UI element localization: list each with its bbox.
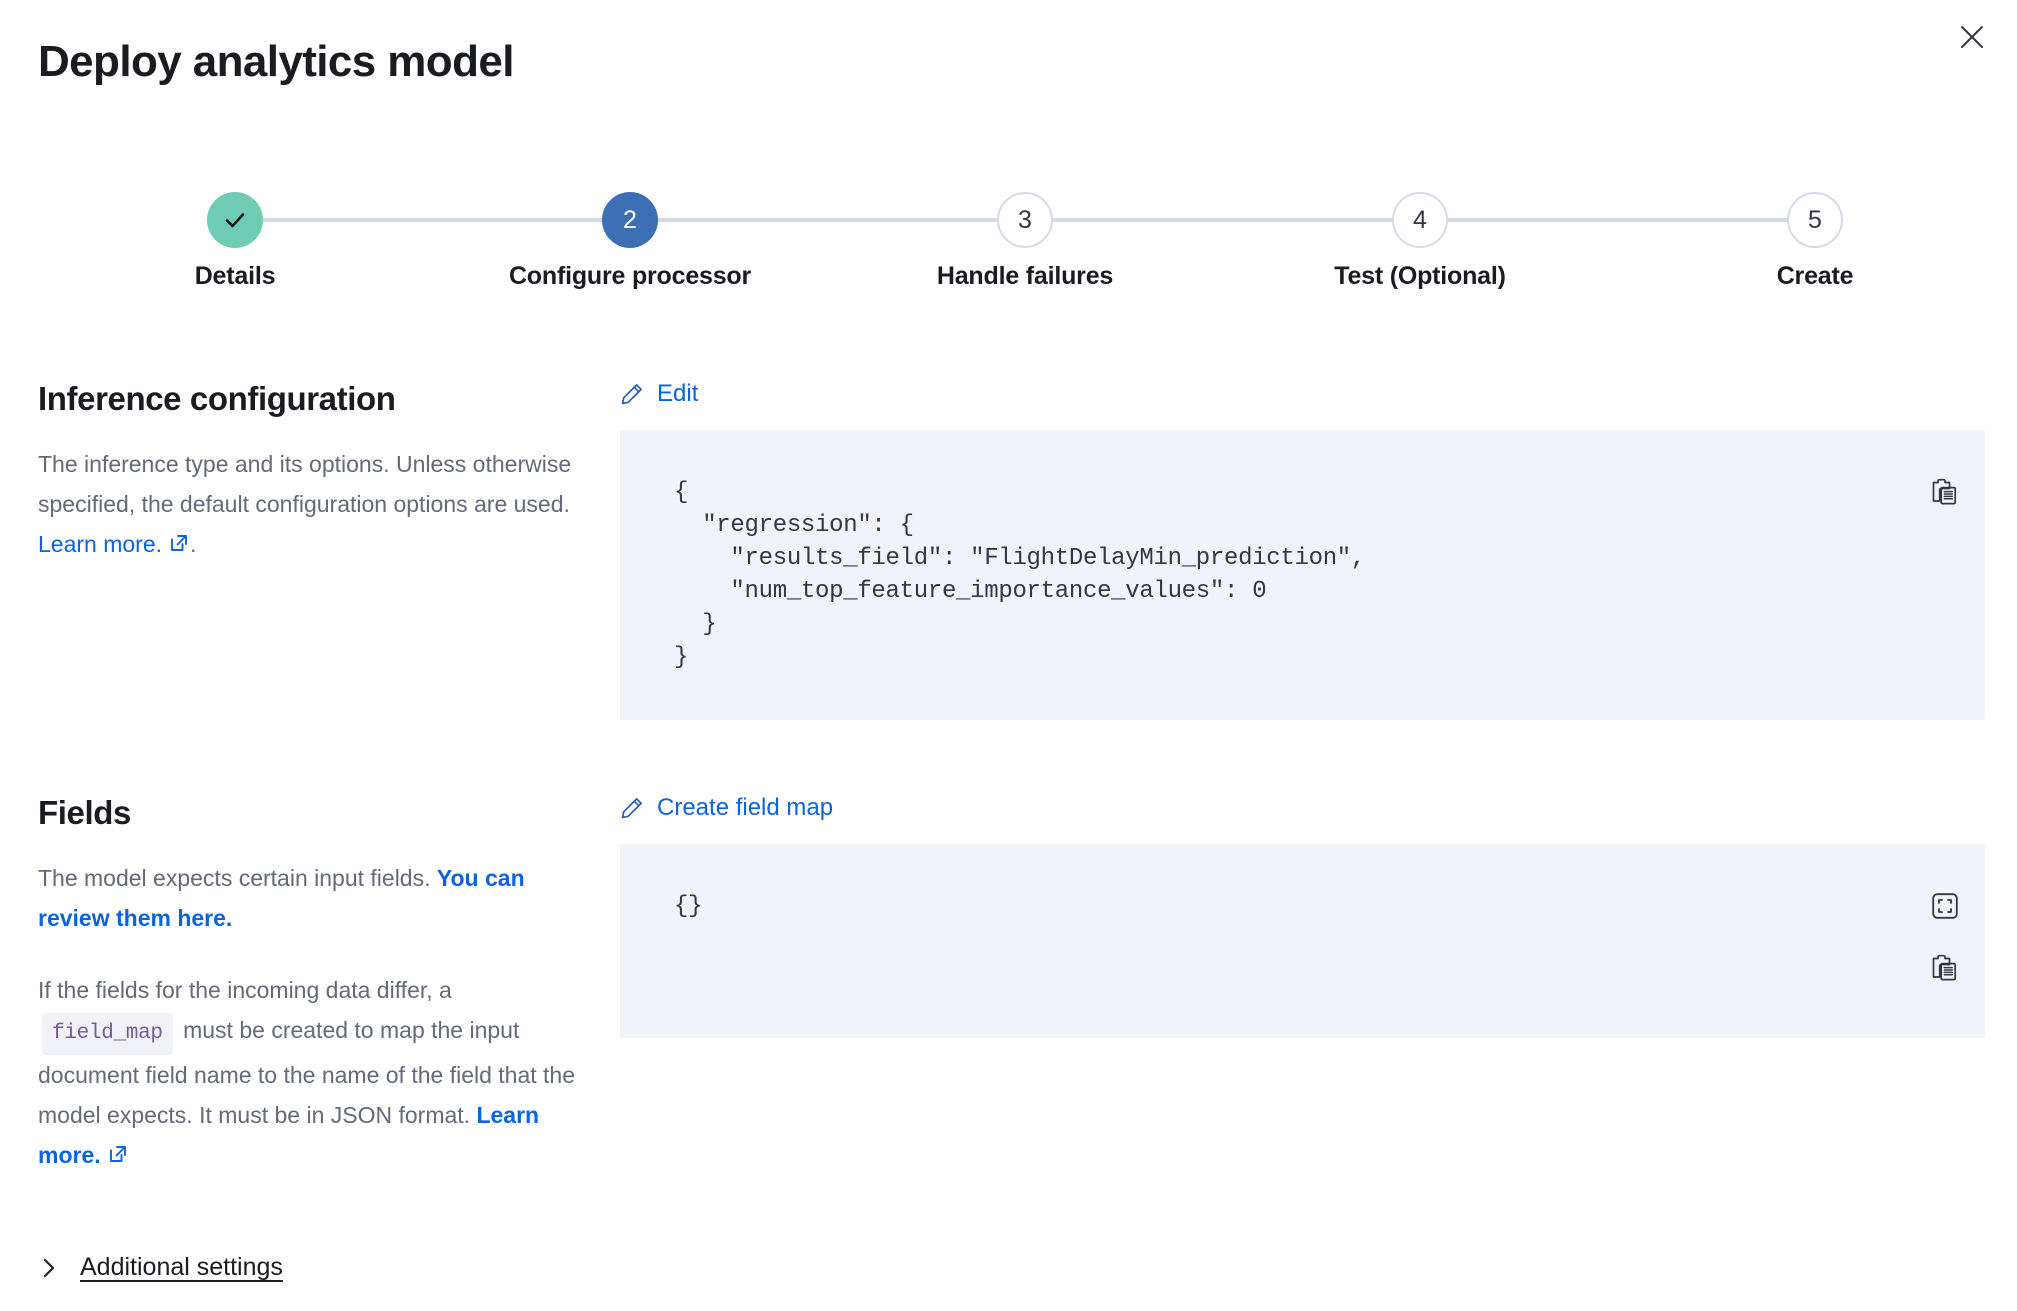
inference-configuration-heading: Inference configuration xyxy=(38,380,580,418)
page-title: Deploy analytics model xyxy=(38,38,514,86)
deploy-analytics-model-modal: Deploy analytics model Details 2 Configu… xyxy=(0,0,2017,1311)
copy-field-map-button[interactable] xyxy=(1927,950,1963,986)
inference-configuration-section: Inference configuration The inference ty… xyxy=(0,380,2017,720)
stepper-label-create: Create xyxy=(1777,262,1854,291)
field-map-code-block[interactable]: {} xyxy=(620,844,1985,1038)
fields-description-2: If the fields for the incoming data diff… xyxy=(38,970,580,1175)
copy-icon xyxy=(1929,476,1961,508)
inference-learn-more-link[interactable]: Learn more. xyxy=(38,531,162,557)
external-link-icon xyxy=(168,526,190,548)
stepper-label-details: Details xyxy=(195,262,276,291)
inference-config-code: { "regression": { "results_field": "Flig… xyxy=(674,476,1985,674)
inference-config-code-actions xyxy=(1927,474,1963,510)
pencil-icon xyxy=(620,382,644,406)
fields-heading: Fields xyxy=(38,794,580,832)
create-field-map-button[interactable]: Create field map xyxy=(620,794,833,822)
edit-inference-config-button[interactable]: Edit xyxy=(620,380,698,408)
stepper-connector-4 xyxy=(1448,218,1788,222)
field-map-code-chip: field_map xyxy=(42,1013,173,1055)
stepper-step-details[interactable]: Details xyxy=(65,192,405,291)
step-marker-complete-icon xyxy=(207,192,263,248)
inference-configuration-description-column: Inference configuration The inference ty… xyxy=(0,380,620,720)
stepper-connector-2 xyxy=(658,218,998,222)
fields-description-1: The model expects certain input fields. … xyxy=(38,858,580,938)
inference-configuration-description: The inference type and its options. Unle… xyxy=(38,444,580,564)
edit-inference-config-label: Edit xyxy=(657,380,698,408)
stepper-connector-3 xyxy=(1053,218,1393,222)
stepper-step-test-optional[interactable]: 4 Test (Optional) xyxy=(1250,192,1590,291)
copy-inference-config-button[interactable] xyxy=(1927,474,1963,510)
additional-settings-label: Additional settings xyxy=(80,1253,283,1282)
inference-config-code-block[interactable]: { "regression": { "results_field": "Flig… xyxy=(620,430,1985,720)
stepper-step-handle-failures[interactable]: 3 Handle failures xyxy=(855,192,1195,291)
stepper-label-test-optional: Test (Optional) xyxy=(1334,262,1506,291)
copy-icon xyxy=(1929,952,1961,984)
step-marker-2: 2 xyxy=(602,192,658,248)
fields-description-column: Fields The model expects certain input f… xyxy=(0,794,620,1175)
inference-description-trailing: . xyxy=(190,531,196,557)
field-map-code: {} xyxy=(674,890,1985,923)
inference-description-text: The inference type and its options. Unle… xyxy=(38,451,571,517)
stepper-label-handle-failures: Handle failures xyxy=(937,262,1113,291)
fullscreen-expand-icon xyxy=(1930,891,1960,921)
fields-section: Fields The model expects certain input f… xyxy=(0,794,2017,1175)
stepper-step-configure-processor[interactable]: 2 Configure processor xyxy=(460,192,800,291)
step-marker-3: 3 xyxy=(997,192,1053,248)
additional-settings-toggle[interactable]: Additional settings xyxy=(38,1253,283,1282)
field-map-code-actions xyxy=(1927,888,1963,986)
section-spacer xyxy=(0,720,2017,794)
step-marker-4: 4 xyxy=(1392,192,1448,248)
fields-description-1-text: The model expects certain input fields. xyxy=(38,865,437,891)
fields-editor-column: Create field map {} xyxy=(620,794,2017,1175)
fields-description-2-part-a: If the fields for the incoming data diff… xyxy=(38,977,452,1003)
modal-body: Inference configuration The inference ty… xyxy=(0,380,2017,1175)
close-modal-button[interactable] xyxy=(1949,14,1995,60)
stepper-label-configure-processor: Configure processor xyxy=(509,262,751,291)
wizard-stepper: Details 2 Configure processor 3 Handle f… xyxy=(0,192,2017,332)
close-icon xyxy=(1959,24,1985,50)
pencil-icon xyxy=(620,796,644,820)
external-link-icon xyxy=(107,1137,129,1159)
stepper-step-create[interactable]: 5 Create xyxy=(1645,192,1985,291)
chevron-right-icon xyxy=(38,1257,60,1279)
inference-configuration-editor-column: Edit { "regression": { "results_field": … xyxy=(620,380,2017,720)
create-field-map-label: Create field map xyxy=(657,794,833,822)
stepper-connector-1 xyxy=(263,218,603,222)
step-marker-5: 5 xyxy=(1787,192,1843,248)
expand-field-map-button[interactable] xyxy=(1927,888,1963,924)
